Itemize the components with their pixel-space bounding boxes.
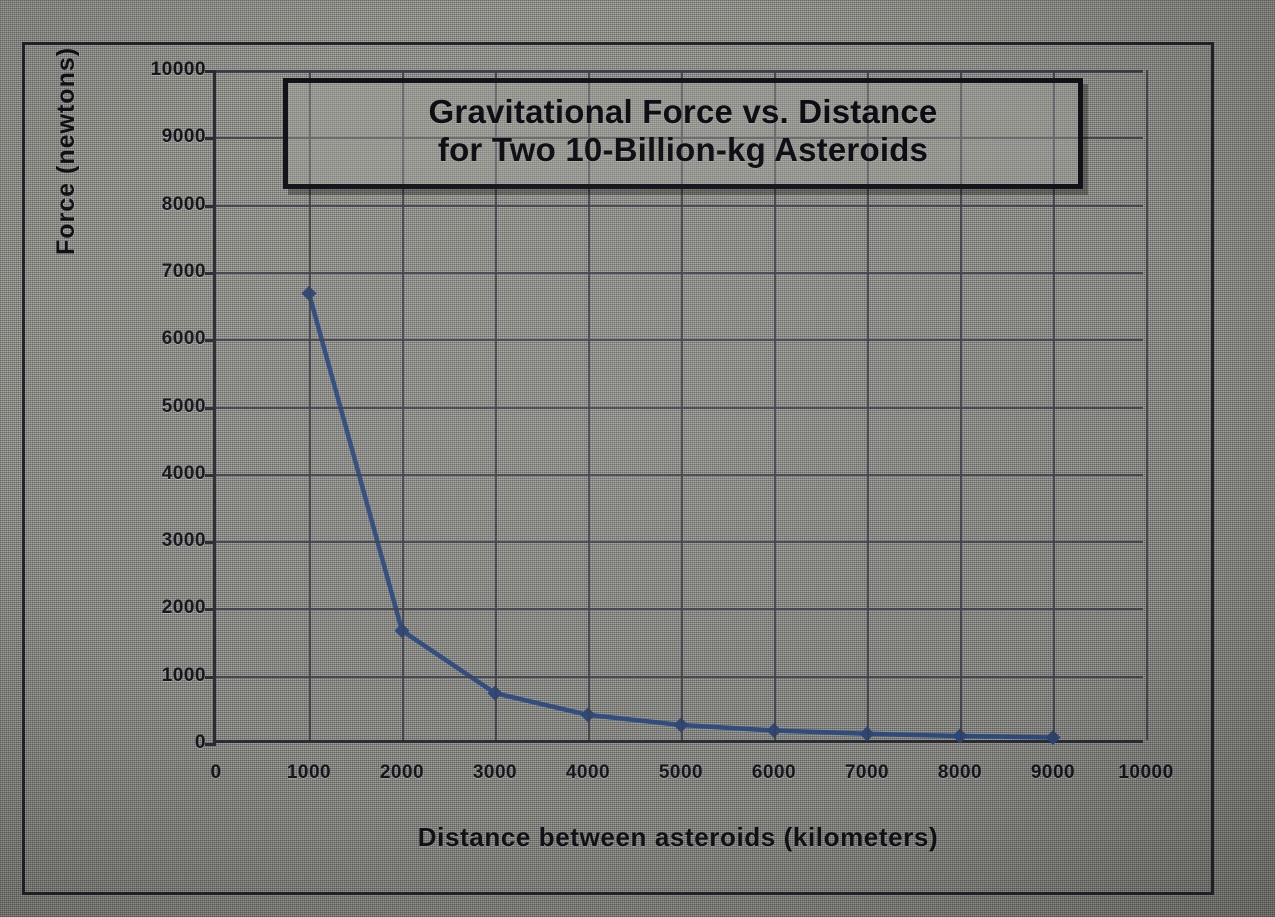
- y-gridline: [216, 541, 1143, 543]
- y-tick-mark: [205, 676, 216, 679]
- y-tick-mark: [205, 474, 216, 477]
- y-tick-label: 0: [195, 732, 206, 754]
- y-tick-mark: [205, 608, 216, 611]
- y-tick-label: 1000: [162, 665, 206, 687]
- x-tick-label: 4000: [566, 762, 610, 784]
- chart-title-line-1: Gravitational Force vs. Distance: [306, 93, 1060, 131]
- y-tick-mark: [205, 541, 216, 544]
- x-tick-label: 6000: [752, 762, 796, 784]
- x-tick-label: 10000: [1118, 762, 1173, 784]
- y-gridline: [216, 407, 1143, 409]
- y-tick-label: 7000: [162, 261, 206, 283]
- y-tick-mark: [205, 743, 216, 746]
- gravitational-force-chart: Force (newtons) 010002000300040005000600…: [0, 0, 1275, 917]
- x-tick-label: 7000: [845, 762, 889, 784]
- y-tick-label: 4000: [162, 463, 206, 485]
- x-gridline: [1146, 70, 1148, 740]
- y-tick-mark: [205, 205, 216, 208]
- x-tick-label: 0: [210, 762, 221, 784]
- y-tick-label: 8000: [162, 194, 206, 216]
- y-tick-mark: [205, 272, 216, 275]
- y-axis-title: Force (newtons): [52, 47, 81, 255]
- y-gridline: [216, 474, 1143, 476]
- y-tick-label: 5000: [162, 396, 206, 418]
- x-axis-title: Distance between asteroids (kilometers): [213, 822, 1143, 853]
- y-gridline: [216, 272, 1143, 274]
- y-gridline: [216, 608, 1143, 610]
- chart-title-line-2: for Two 10-Billion-kg Asteroids: [306, 131, 1060, 169]
- y-gridline: [216, 205, 1143, 207]
- y-tick-mark: [205, 407, 216, 410]
- y-tick-label: 3000: [162, 530, 206, 552]
- x-tick-label: 1000: [287, 762, 331, 784]
- y-gridline: [216, 676, 1143, 678]
- x-tick-label: 8000: [938, 762, 982, 784]
- y-tick-label: 6000: [162, 328, 206, 350]
- x-tick-label: 9000: [1031, 762, 1075, 784]
- y-tick-label: 9000: [162, 126, 206, 148]
- x-tick-label: 3000: [473, 762, 517, 784]
- y-gridline: [216, 339, 1143, 341]
- chart-title-box: Gravitational Force vs. Distance for Two…: [283, 78, 1083, 189]
- x-tick-label: 2000: [380, 762, 424, 784]
- y-tick-mark: [205, 137, 216, 140]
- y-tick-mark: [205, 339, 216, 342]
- y-tick-label: 10000: [151, 59, 206, 81]
- y-tick-label: 2000: [162, 597, 206, 619]
- plot-top-border: [216, 70, 1143, 73]
- x-tick-label: 5000: [659, 762, 703, 784]
- y-tick-mark: [205, 70, 216, 73]
